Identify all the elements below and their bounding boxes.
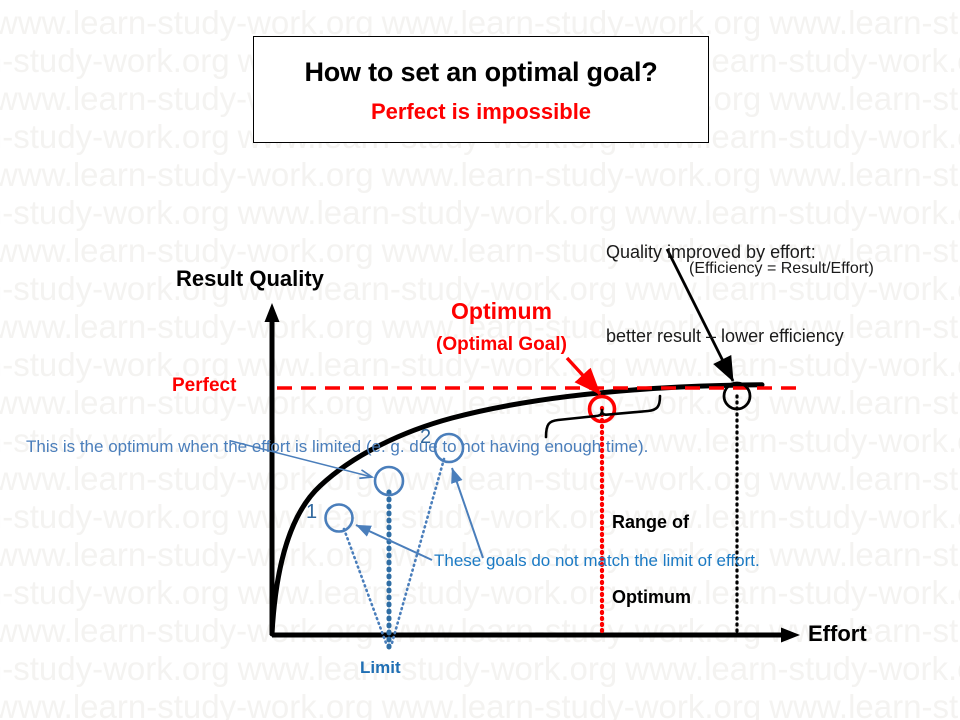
y-axis-label: Result Quality <box>176 266 324 292</box>
range-of-optimum-line1: Range of <box>612 510 691 535</box>
marker-2-label: 2 <box>420 426 431 449</box>
goals-mismatch-note: These goals do not match the limit of ef… <box>434 548 594 573</box>
page-title: How to set an optimal goal? <box>304 57 657 88</box>
x-axis-label: Effort <box>808 621 867 647</box>
marker1-to-limit-line <box>344 529 386 643</box>
marker-point-1 <box>326 505 353 532</box>
range-of-optimum-line2: Optimum <box>612 585 691 610</box>
quality-note-line2: better result – lower efficiency <box>606 322 844 350</box>
perfect-label: Perfect <box>172 375 236 397</box>
page-subtitle: Perfect is impossible <box>371 99 591 125</box>
marker-1-label: 1 <box>306 501 317 524</box>
limited-effort-note: This is the optimum when the effort is l… <box>26 434 251 459</box>
limit-label: Limit <box>360 658 401 678</box>
optimum-sublabel: (Optimal Goal) <box>436 334 567 356</box>
title-box: How to set an optimal goal? Perfect is i… <box>253 36 709 143</box>
efficiency-note: (Efficiency = Result/Effort) <box>689 260 874 278</box>
axis-x <box>272 628 800 643</box>
goals-note-arrow-2 <box>452 468 483 558</box>
optimum-label: Optimum <box>451 298 552 325</box>
quality-note: Quality improved by effort: better resul… <box>606 182 844 406</box>
slide-canvas: www.learn-study-work.orgwww.learn-study-… <box>0 0 960 720</box>
